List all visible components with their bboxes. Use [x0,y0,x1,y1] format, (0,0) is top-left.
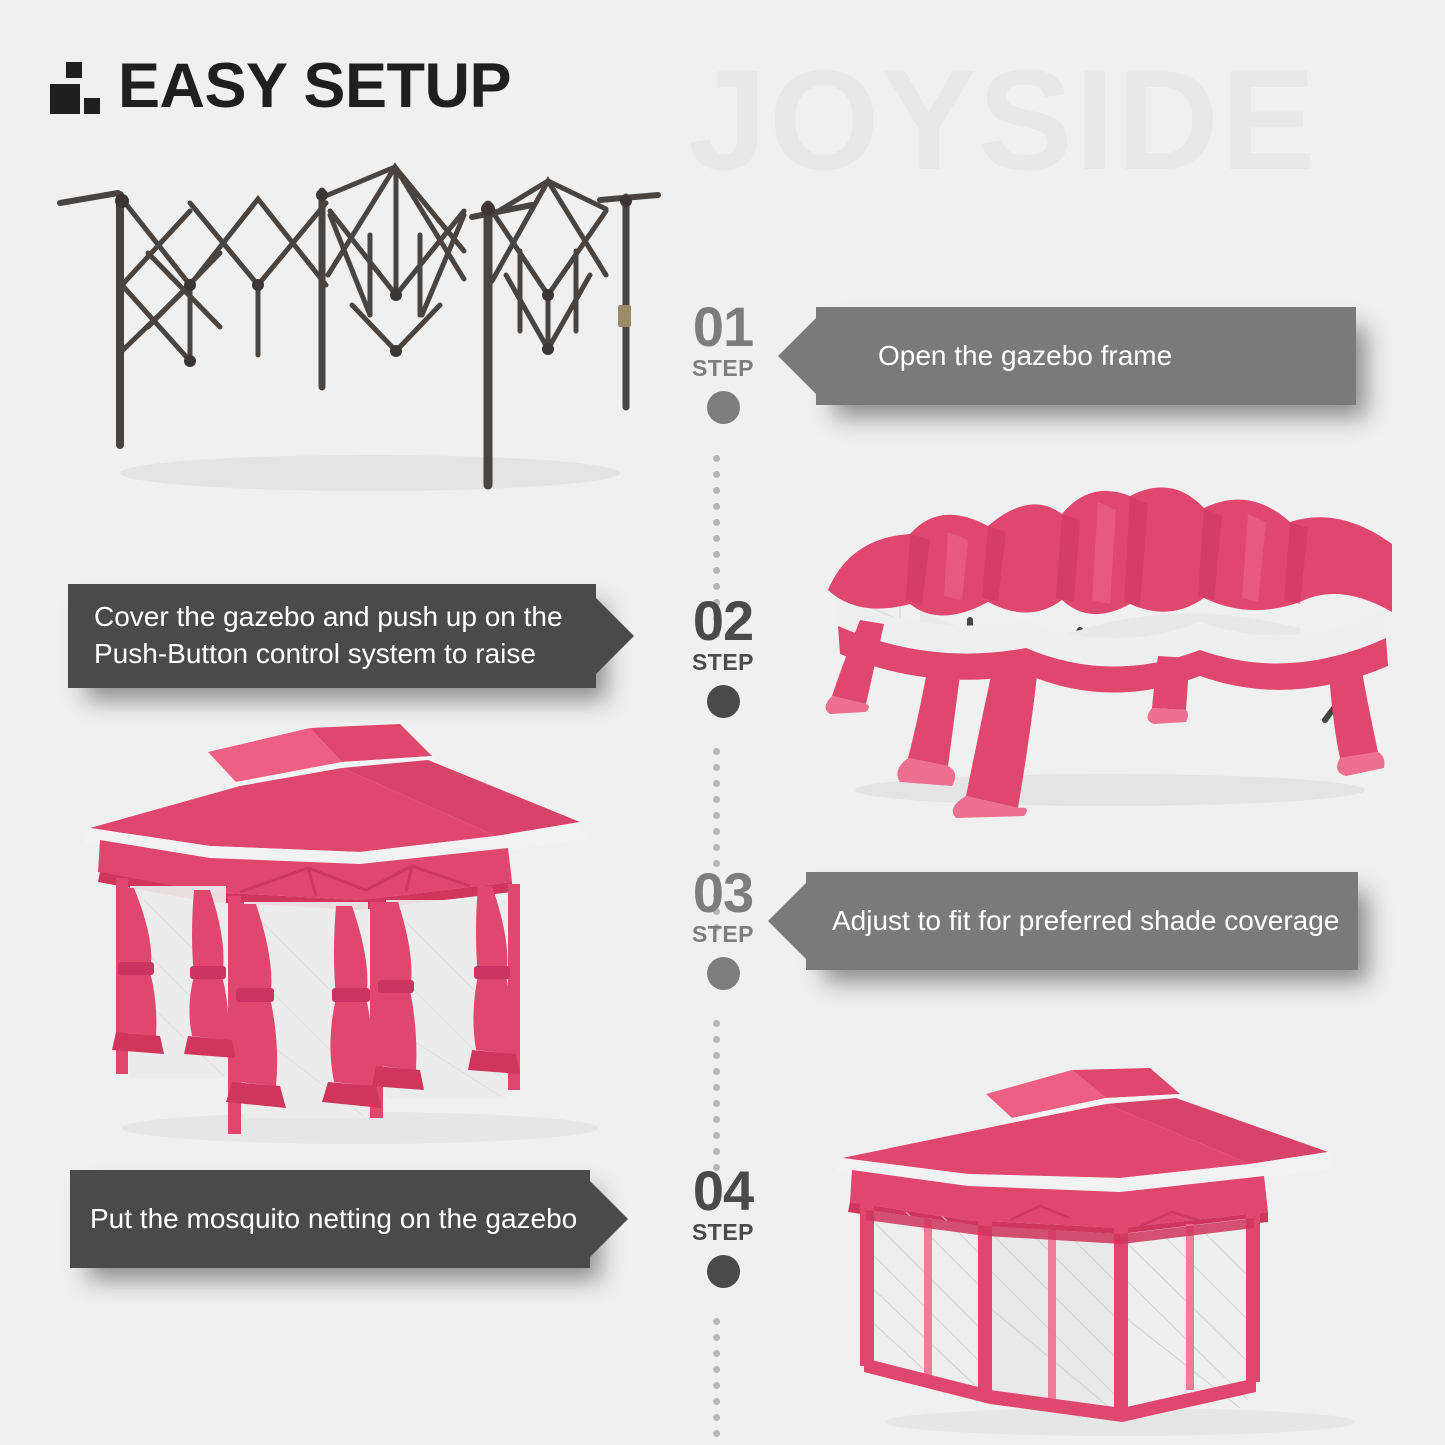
step-connector-04-end [712,1318,720,1445]
gazebo-with-mosquito-netting-image [820,1060,1400,1445]
step-number-03: 03 [680,866,766,919]
step-number-04: 04 [680,1164,766,1217]
callout-step-04-text: Put the mosquito netting on the gazebo [70,1170,590,1268]
step-marker-01: 01 STEP [680,300,766,424]
page-title: EASY SETUP [118,55,511,118]
infographic-page: JOYSIDE EASY SETUP [0,0,1445,1445]
step-marker-03: 03 STEP [680,866,766,990]
page-header: EASY SETUP [50,55,511,118]
step-word-02: STEP [680,649,766,676]
callout-step-02: Cover the gazebo and push up on the Push… [68,584,596,688]
step-marker-02: 02 STEP [680,594,766,718]
callout-step-03-text: Adjust to fit for preferred shade covera… [806,872,1358,970]
step-number-02: 02 [680,594,766,647]
callout-step-01: Open the gazebo frame [816,307,1356,405]
step-bullet-04 [707,1255,740,1288]
step-bullet-02 [707,685,740,718]
callout-step-03: Adjust to fit for preferred shade covera… [806,872,1358,970]
step-bullet-03 [707,957,740,990]
gazebo-frame-open-image [40,155,680,505]
callout-step-02-text: Cover the gazebo and push up on the Push… [68,584,596,688]
brand-watermark: JOYSIDE [688,50,1318,192]
gazebo-erected-pink-image [60,710,640,1160]
squares-logo-icon [50,58,102,116]
step-marker-04: 04 STEP [680,1164,766,1288]
step-word-03: STEP [680,921,766,948]
step-word-01: STEP [680,355,766,382]
step-bullet-01 [707,391,740,424]
callout-step-01-text: Open the gazebo frame [816,307,1356,405]
callout-step-04: Put the mosquito netting on the gazebo [70,1170,590,1268]
step-word-04: STEP [680,1219,766,1246]
step-number-01: 01 [680,300,766,353]
gazebo-canopy-draped-image [780,470,1420,820]
